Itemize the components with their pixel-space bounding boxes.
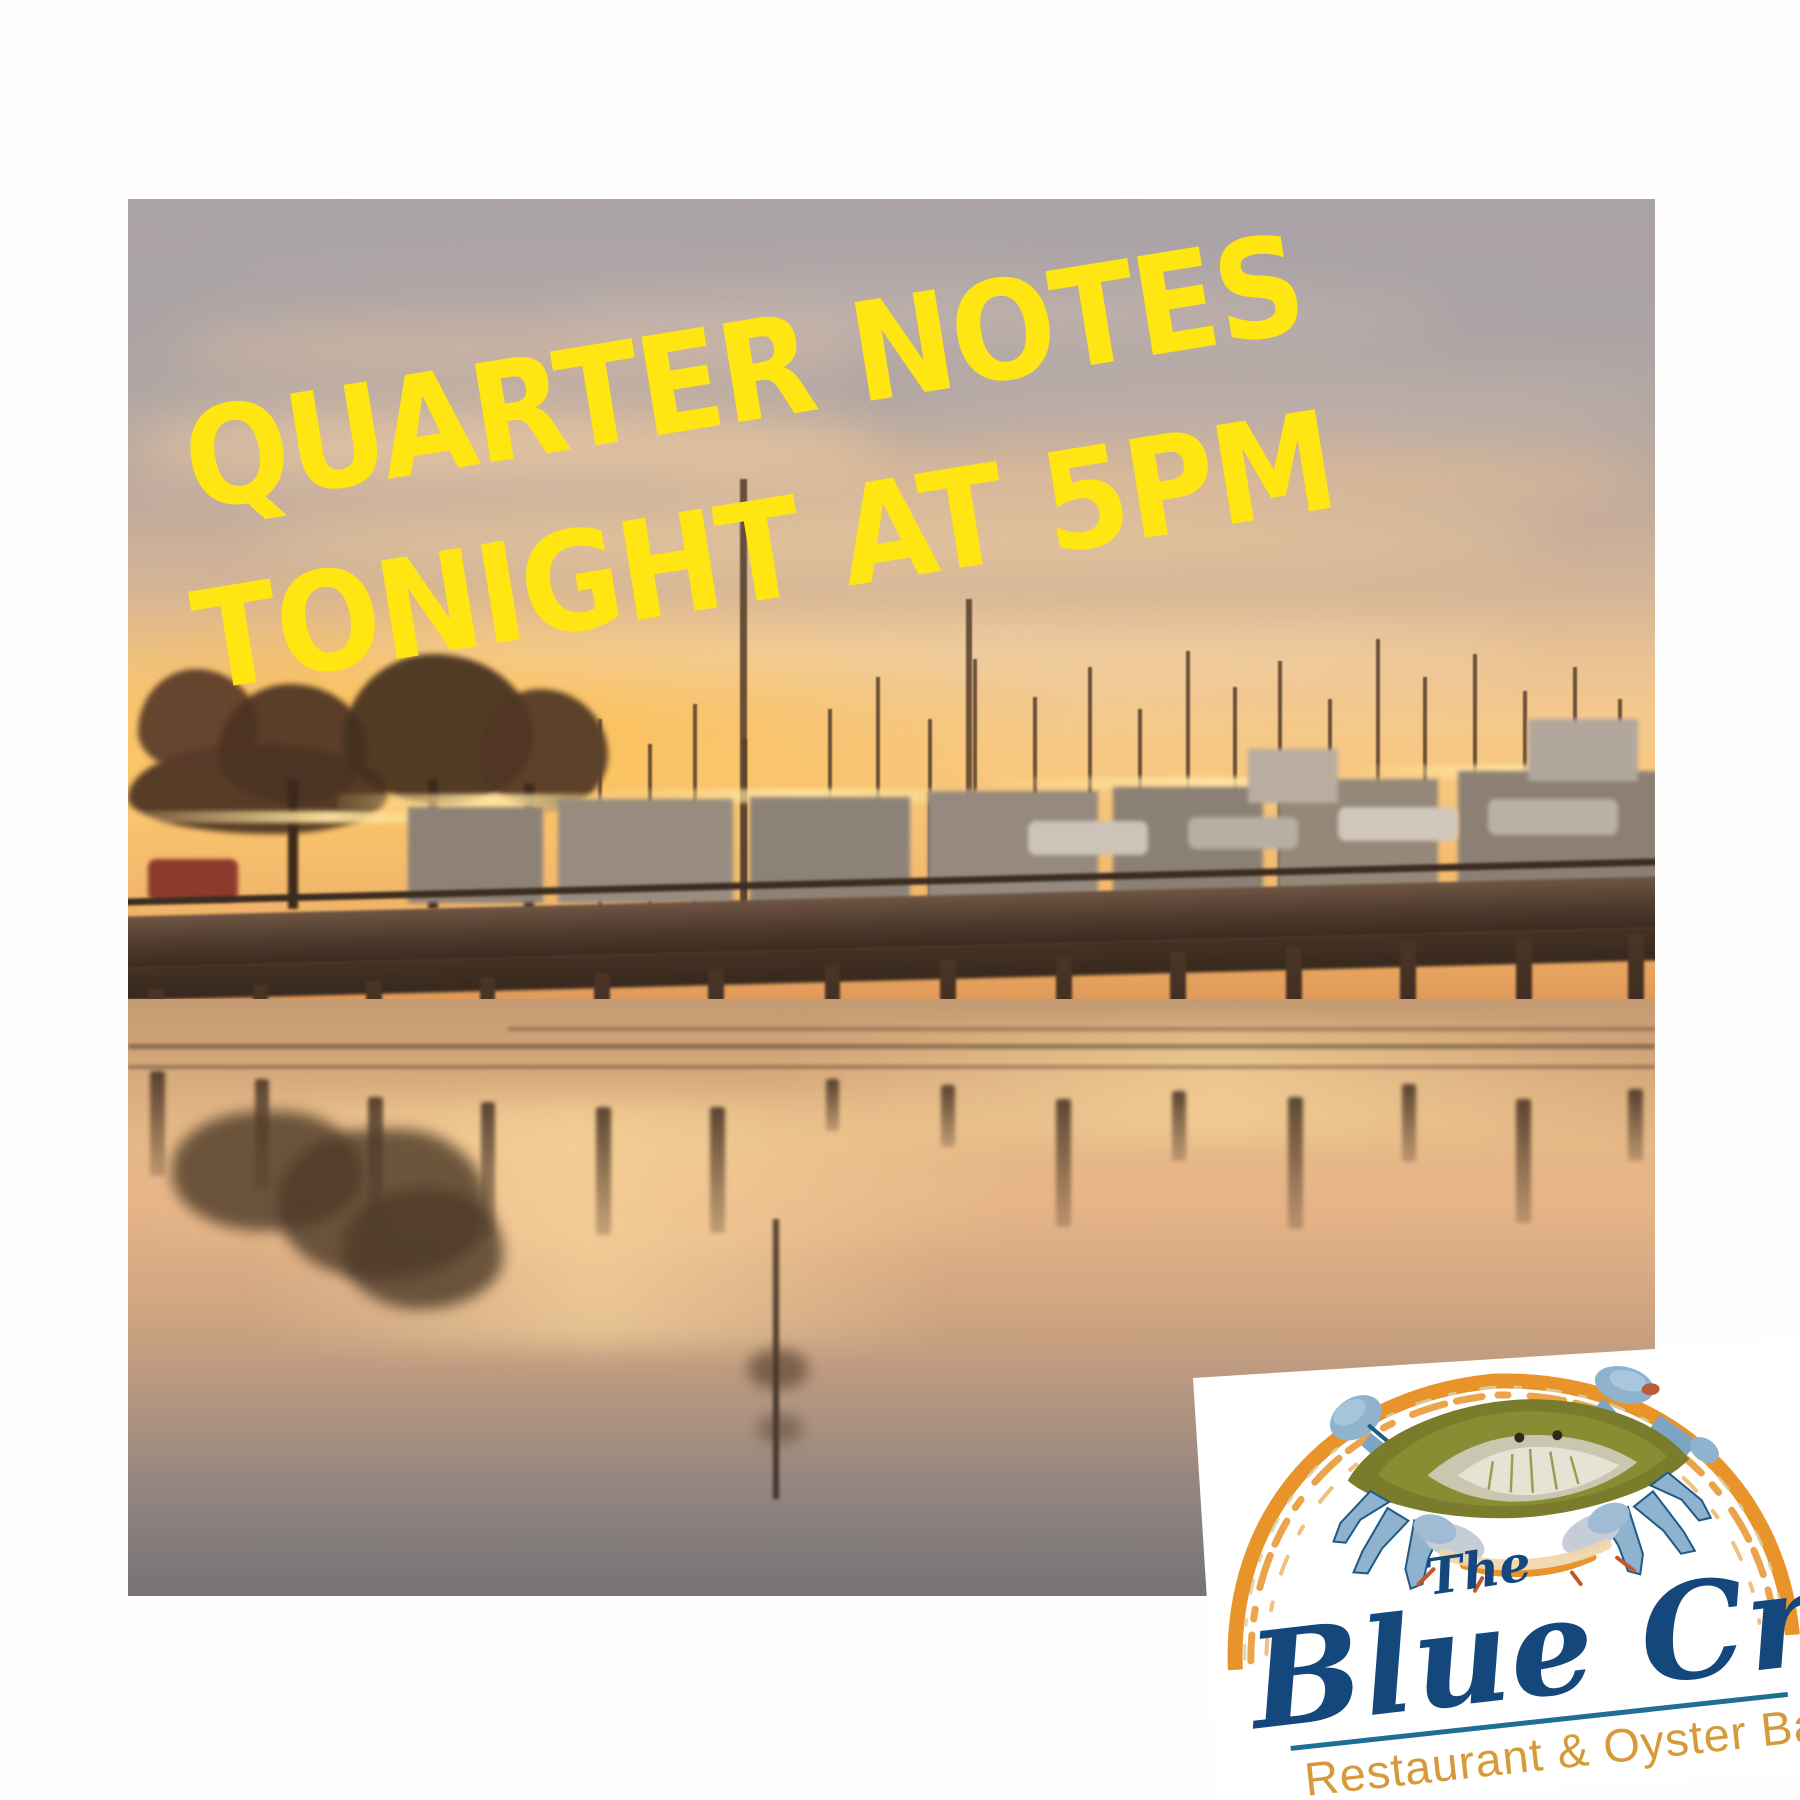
cloud-streak (888, 369, 1655, 439)
tall-piling (740, 479, 747, 919)
dock-building (750, 797, 910, 905)
piling-reflection (1172, 1091, 1186, 1161)
piling-reflection (150, 1071, 165, 1176)
water-ripple (128, 1044, 1655, 1049)
debris-reflection (758, 1414, 802, 1444)
cloud-streak (328, 629, 1528, 675)
cloud-streak (248, 509, 1548, 567)
piling-reflection (941, 1085, 955, 1147)
parked-car (1338, 807, 1458, 841)
piling-reflection (1402, 1084, 1416, 1162)
blue-crab-logo-card[interactable]: The Blue Crab Restaurant & Oyster Bar (1193, 1340, 1800, 1800)
piling-reflection (1516, 1099, 1531, 1223)
debris-reflection (748, 1349, 808, 1389)
marsh-reflection (343, 1189, 503, 1309)
parked-car (1028, 821, 1148, 855)
water-ripple (128, 1065, 1655, 1069)
promo-canvas: QUARTER NOTES TONIGHT AT 5PM (0, 0, 1800, 1800)
parked-car (1488, 799, 1618, 835)
cloud-streak (648, 449, 1648, 503)
piling-reflection (826, 1079, 839, 1131)
dock-building (1528, 719, 1638, 781)
parked-car (148, 859, 238, 901)
piling-reflection (596, 1107, 611, 1235)
piling-reflection (1056, 1099, 1071, 1227)
water-ripple (508, 1027, 1655, 1031)
tree-trunk (288, 779, 298, 909)
piling-reflection (710, 1107, 725, 1233)
parked-car (1188, 817, 1298, 849)
piling-reflection (1628, 1089, 1643, 1161)
piling-reflection (1288, 1097, 1303, 1229)
cloud-streak (548, 294, 1448, 344)
dock-building (1248, 749, 1338, 803)
